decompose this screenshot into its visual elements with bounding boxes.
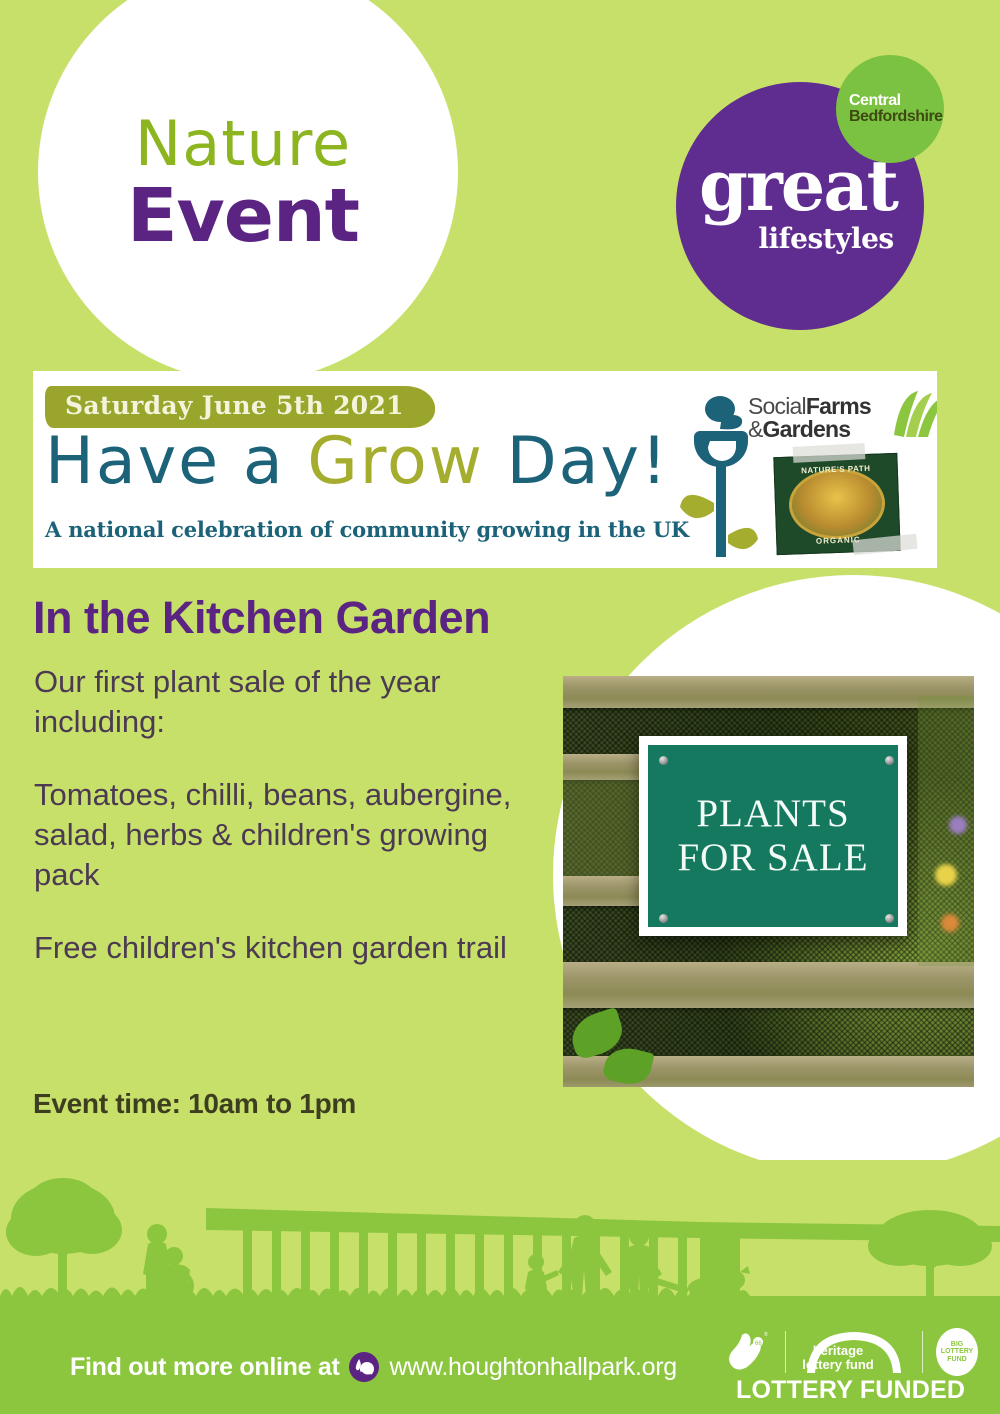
poster-root: Nature Event great lifestyles Central Be…	[0, 0, 1000, 1414]
leaf-swirl-icon	[890, 387, 937, 439]
sign-screw-bottom-right	[885, 914, 894, 923]
event-time-label: Event time: 10am to 1pm	[33, 1088, 356, 1120]
big-lottery-label: BIG LOTTERY FUND	[936, 1341, 978, 1363]
council-line-1: Central	[849, 93, 901, 109]
flower-orange	[941, 914, 959, 932]
houghton-hall-park-icon	[349, 1352, 379, 1382]
sign-screw-top-right	[885, 756, 894, 765]
nature-label: Nature	[135, 115, 351, 174]
page-title: In the Kitchen Garden	[33, 592, 490, 644]
find-out-more-label: Find out more online at	[70, 1353, 339, 1382]
event-description: Our first plant sale of the year includi…	[34, 662, 534, 1002]
fence-slat-lower	[563, 962, 974, 1008]
event-date-label: Saturday June 5th 2021	[65, 391, 404, 420]
flower-yellow	[935, 864, 957, 886]
swirl-glyph	[349, 1352, 379, 1382]
description-paragraph-2: Tomatoes, chilli, beans, aubergine, sala…	[34, 775, 534, 894]
description-paragraph-3: Free children's kitchen garden trail	[34, 928, 534, 968]
event-label: Event	[127, 179, 359, 253]
logo-divider-2	[922, 1331, 923, 1373]
sign-screw-bottom-left	[659, 914, 668, 923]
heritage-line-1: heritage	[798, 1344, 878, 1358]
title-part-1: Have a	[45, 424, 307, 499]
sfg-line2-light: &	[748, 416, 763, 442]
social-farms-gardens-logo: SocialFarms &Gardens	[748, 395, 871, 441]
sign-line-1: PLANTS	[696, 792, 849, 836]
grow-day-subtitle: A national celebration of community grow…	[45, 517, 689, 542]
flower-purple	[949, 816, 967, 834]
council-line-2: Bedfordshire	[849, 109, 943, 125]
lottery-funded-label: LOTTERY FUNDED	[736, 1376, 965, 1405]
park-scene-illustration	[0, 1160, 1000, 1340]
park-silhouette-band	[0, 1160, 1000, 1340]
sign-line-2: FOR SALE	[677, 836, 868, 880]
description-paragraph-1: Our first plant sale of the year includi…	[34, 662, 534, 741]
nature-event-logo: Nature Event	[38, 0, 458, 382]
title-part-2: Grow	[307, 424, 506, 499]
central-bedfordshire-logo: Central Bedfordshire	[836, 55, 944, 163]
fence-slat-top	[563, 676, 974, 708]
great-label: great	[699, 158, 897, 214]
website-url[interactable]: www.houghtonhallpark.org	[389, 1353, 676, 1382]
title-part-3: Day!	[507, 424, 669, 499]
have-a-grow-day-banner: Saturday June 5th 2021 Have a Grow Day! …	[33, 371, 937, 568]
grow-day-title: Have a Grow Day!	[45, 429, 669, 494]
heritage-lottery-text: heritage lottery fund	[798, 1344, 878, 1371]
plants-for-sale-photo: PLANTS FOR SALE	[563, 676, 974, 1087]
sign-screw-top-left	[659, 756, 668, 765]
logo-divider-1	[785, 1331, 786, 1373]
svg-text:®: ®	[764, 1331, 768, 1338]
heritage-line-2: lottery fund	[798, 1358, 878, 1372]
lottery-logos: 66 ® heritage lottery fund BIG LOTTERY F…	[728, 1328, 978, 1376]
seed-packet-oval	[788, 467, 886, 540]
svg-text:66: 66	[755, 1341, 762, 1347]
footer-website-line: Find out more online at www.houghtonhall…	[70, 1352, 677, 1382]
crossed-fingers-icon: 66 ®	[728, 1329, 772, 1375]
big-lottery-fund-logo: BIG LOTTERY FUND	[936, 1328, 978, 1376]
sfg-line2-bold: Gardens	[763, 416, 851, 442]
plants-for-sale-sign: PLANTS FOR SALE	[639, 736, 907, 936]
lifestyles-label: lifestyles	[758, 222, 893, 255]
